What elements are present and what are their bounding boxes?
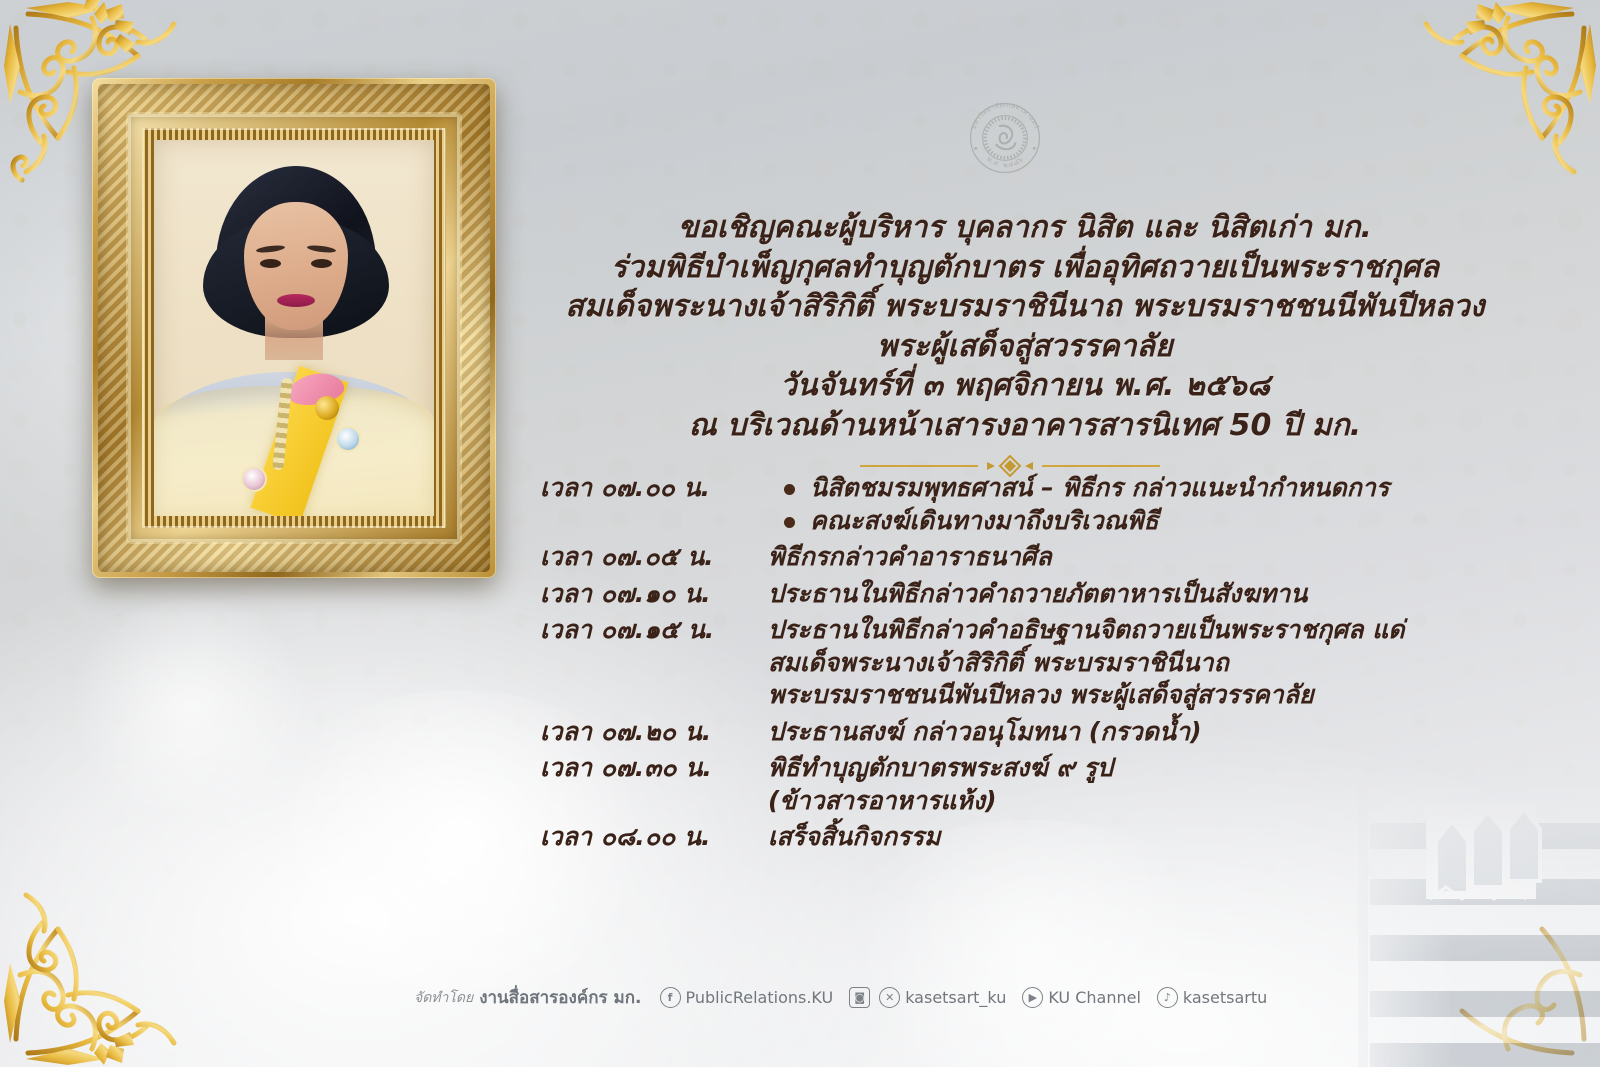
youtube-handle: KU Channel [1048, 988, 1141, 1007]
schedule-time: เวลา ๐๗.๑๕ น. [540, 614, 768, 647]
portrait-lips [277, 294, 315, 307]
social-youtube[interactable]: ▶ KU Channel [1022, 987, 1141, 1008]
schedule-time: เวลา ๐๗.๐๕ น. [540, 541, 768, 574]
invitation-line: ร่วมพิธีบำเพ็ญกุศลทำบุญตักบาตร เพื่ออุทิ… [520, 248, 1530, 288]
portrait-eye-left [260, 259, 281, 268]
portrait-eye-right [311, 259, 332, 268]
invitation-line: ณ บริเวณด้านหน้าเสารงอาคารสารนิเทศ 50 ปี… [520, 406, 1530, 446]
light-glow [60, 600, 320, 810]
invitation-poster: มหาวิทยาลัยเกษตรศาสตร์ พ.ศ. ๒๔๘๖ ขอเชิญค… [0, 0, 1600, 1067]
schedule-row: เวลา ๐๗.๐๕ น. พิธีกรกล่าวคำอาราธนาศีล [540, 541, 1520, 574]
schedule-time: เวลา ๐๗.๓๐ น. [540, 752, 768, 785]
corner-ornament-top-right [1389, 0, 1600, 209]
schedule-time: เวลา ๐๘.๐๐ น. [540, 821, 768, 854]
kasetsart-university-emblem: มหาวิทยาลัยเกษตรศาสตร์ พ.ศ. ๒๔๘๖ [962, 95, 1048, 181]
schedule-time: เวลา ๐๗.๐๐ น. [540, 472, 768, 505]
invitation-line: พระผู้เสด็จสู่สวรรคาลัย [520, 327, 1530, 367]
list-item: คณะสงฆ์เดินทางมาถึงบริเวณพิธี [768, 505, 1520, 538]
svg-text:พ.ศ. ๒๔๘๖: พ.ศ. ๒๔๘๖ [985, 154, 1025, 169]
facebook-handle: PublicRelations.KU [686, 988, 834, 1007]
instagram-icon: ◙ [849, 987, 870, 1008]
schedule-line: ประธานในพิธีกล่าวคำถวายภัตตาหารเป็นสังฆท… [768, 578, 1520, 611]
schedule-line: พิธีกรกล่าวคำอาราธนาศีล [768, 541, 1520, 574]
social-facebook[interactable]: f PublicRelations.KU [660, 987, 834, 1008]
schedule-time: เวลา ๐๗.๑๐ น. [540, 578, 768, 611]
royal-portrait-frame [92, 78, 496, 578]
schedule-line: สมเด็จพระนางเจ้าสิริกิติ์ พระบรมราชินีนา… [768, 647, 1520, 680]
schedule-line: ประธานในพิธีกล่าวคำอธิษฐานจิตถวายเป็นพระ… [768, 614, 1520, 647]
invitation-line: ขอเชิญคณะผู้บริหาร บุคลากร นิสิต และ นิส… [520, 208, 1530, 248]
social-x-twitter[interactable]: ✕ kasetsart_ku [879, 987, 1006, 1008]
x-handle: kasetsart_ku [905, 988, 1006, 1007]
tiktok-handle: kasetsartu [1183, 988, 1267, 1007]
invitation-text: ขอเชิญคณะผู้บริหาร บุคลากร นิสิต และ นิส… [520, 208, 1530, 446]
facebook-icon: f [660, 987, 681, 1008]
footer-credits: จัดทำโดย งานสื่อสารองค์กร มก. f PublicRe… [414, 984, 1283, 1011]
social-instagram[interactable]: ◙ [849, 987, 875, 1008]
schedule-line: ประธานสงฆ์ กล่าวอนุโมทนา (กรวดน้ำ) [768, 716, 1520, 749]
portrait-eyebrow-left [256, 244, 286, 253]
schedule-row: เวลา ๐๗.๐๐ น. นิสิตชมรมพุทธศาสน์ – พิธีก… [540, 472, 1520, 537]
royal-portrait-photo [154, 140, 434, 516]
schedule-row: เวลา ๐๗.๑๐ น. ประธานในพิธีกล่าวคำถวายภัต… [540, 578, 1520, 611]
schedule-description: พิธีกรกล่าวคำอาราธนาศีล [768, 541, 1520, 574]
schedule-row: เวลา ๐๗.๑๕ น. ประธานในพิธีกล่าวคำอธิษฐาน… [540, 614, 1520, 712]
schedule-description: นิสิตชมรมพุทธศาสน์ – พิธีกร กล่าวแนะนำกำ… [768, 472, 1520, 537]
emblem-bottom-text: พ.ศ. ๒๔๘๖ [985, 154, 1025, 169]
youtube-icon: ▶ [1022, 987, 1043, 1008]
social-tiktok[interactable]: ♪ kasetsartu [1157, 987, 1267, 1008]
schedule-description: ประธานในพิธีกล่าวคำถวายภัตตาหารเป็นสังฆท… [768, 578, 1520, 611]
schedule-time: เวลา ๐๗.๒๐ น. [540, 716, 768, 749]
schedule-row: เวลา ๐๗.๒๐ น. ประธานสงฆ์ กล่าวอนุโมทนา (… [540, 716, 1520, 749]
x-twitter-icon: ✕ [879, 987, 900, 1008]
portrait-eyebrow-right [307, 244, 337, 253]
schedule-line: พระบรมราชชนนีพันปีหลวง พระผู้เสด็จสู่สวร… [768, 679, 1520, 712]
invitation-line: สมเด็จพระนางเจ้าสิริกิติ์ พระบรมราชินีนา… [520, 287, 1530, 327]
university-building-image [1330, 767, 1600, 1067]
tiktok-icon: ♪ [1157, 987, 1178, 1008]
corner-ornament-bottom-left [0, 858, 211, 1067]
organization-name: งานสื่อสารองค์กร มก. [479, 984, 641, 1011]
schedule-bullet-list: นิสิตชมรมพุทธศาสน์ – พิธีกร กล่าวแนะนำกำ… [768, 472, 1520, 537]
invitation-line: วันจันทร์ที่ ๓ พฤศจิกายน พ.ศ. ๒๕๖๘ [520, 366, 1530, 406]
made-by-label: จัดทำโดย [414, 987, 473, 1009]
schedule-description: ประธานสงฆ์ กล่าวอนุโมทนา (กรวดน้ำ) [768, 716, 1520, 749]
portrait-gold-medal [315, 396, 339, 420]
list-item: นิสิตชมรมพุทธศาสน์ – พิธีกร กล่าวแนะนำกำ… [768, 472, 1520, 505]
portrait-order-badge [241, 466, 267, 492]
schedule-description: ประธานในพิธีกล่าวคำอธิษฐานจิตถวายเป็นพระ… [768, 614, 1520, 712]
